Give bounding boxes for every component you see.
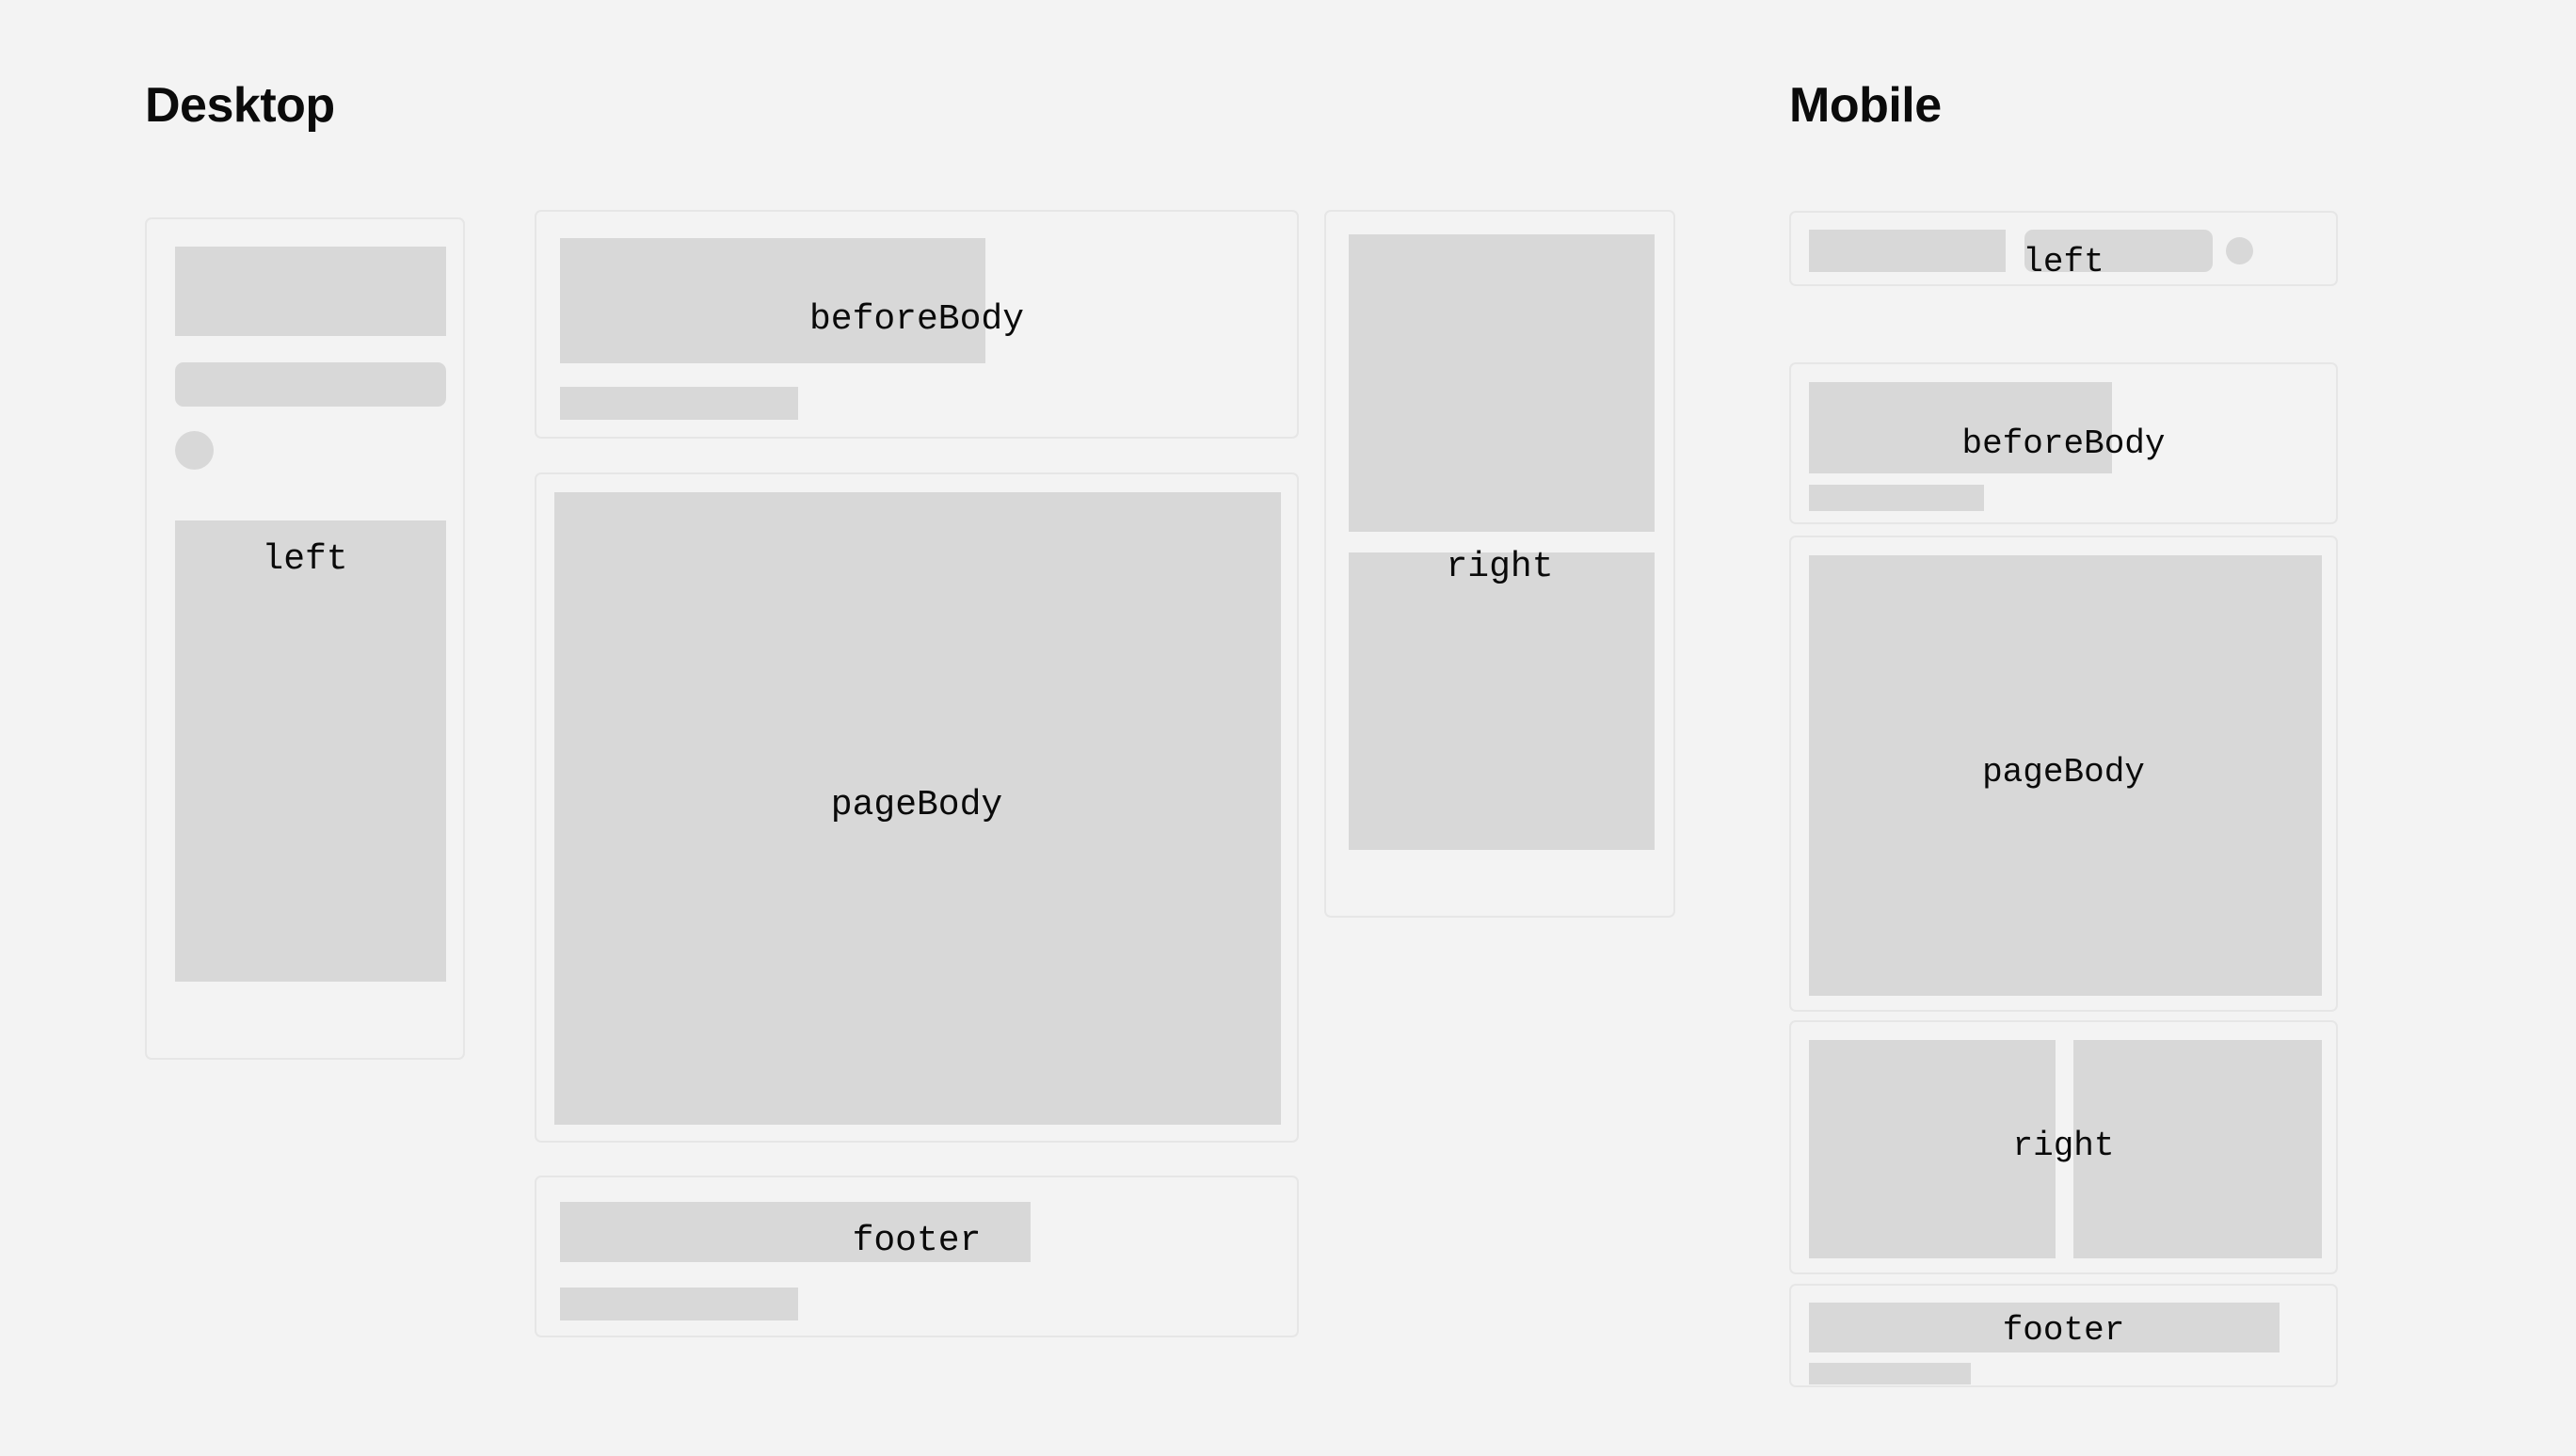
desktop-beforebody-region-panel[interactable] [535, 210, 1299, 439]
skeleton-bar [560, 1288, 798, 1320]
skeleton-block [175, 520, 446, 982]
skeleton-block [1809, 230, 2006, 272]
skeleton-block [2073, 1040, 2322, 1258]
skeleton-block [1809, 555, 2322, 996]
skeleton-avatar-circle [175, 431, 214, 470]
desktop-pagebody-region-panel[interactable] [535, 472, 1299, 1143]
skeleton-block [175, 247, 446, 336]
desktop-footer-region-panel[interactable] [535, 1176, 1299, 1337]
skeleton-block [1809, 1303, 2280, 1352]
skeleton-block [1349, 552, 1655, 850]
desktop-left-region-panel[interactable] [145, 217, 465, 1060]
skeleton-block [1349, 234, 1655, 532]
mobile-left-region-panel[interactable] [1789, 211, 2338, 286]
desktop-right-region-panel[interactable] [1324, 210, 1675, 918]
skeleton-block [1809, 382, 2112, 473]
skeleton-bar [2024, 230, 2213, 272]
skeleton-block [560, 238, 985, 363]
skeleton-block [1809, 1040, 2056, 1258]
skeleton-block [554, 492, 1281, 1125]
mobile-footer-region-panel[interactable] [1789, 1284, 2338, 1387]
mobile-column-heading: Mobile [1789, 81, 1942, 130]
skeleton-bar [175, 362, 446, 407]
mobile-pagebody-region-panel[interactable] [1789, 536, 2338, 1012]
skeleton-bar [560, 387, 798, 420]
mobile-right-region-panel[interactable] [1789, 1020, 2338, 1274]
skeleton-bar [1809, 1363, 1971, 1384]
skeleton-block [560, 1202, 1031, 1262]
skeleton-avatar-circle [2226, 237, 2253, 264]
desktop-column-heading: Desktop [145, 81, 335, 130]
skeleton-bar [1809, 485, 1984, 511]
layout-preview-stage: Desktop Mobile left beforeBody pageBody … [0, 0, 2576, 1456]
mobile-beforebody-region-panel[interactable] [1789, 362, 2338, 524]
